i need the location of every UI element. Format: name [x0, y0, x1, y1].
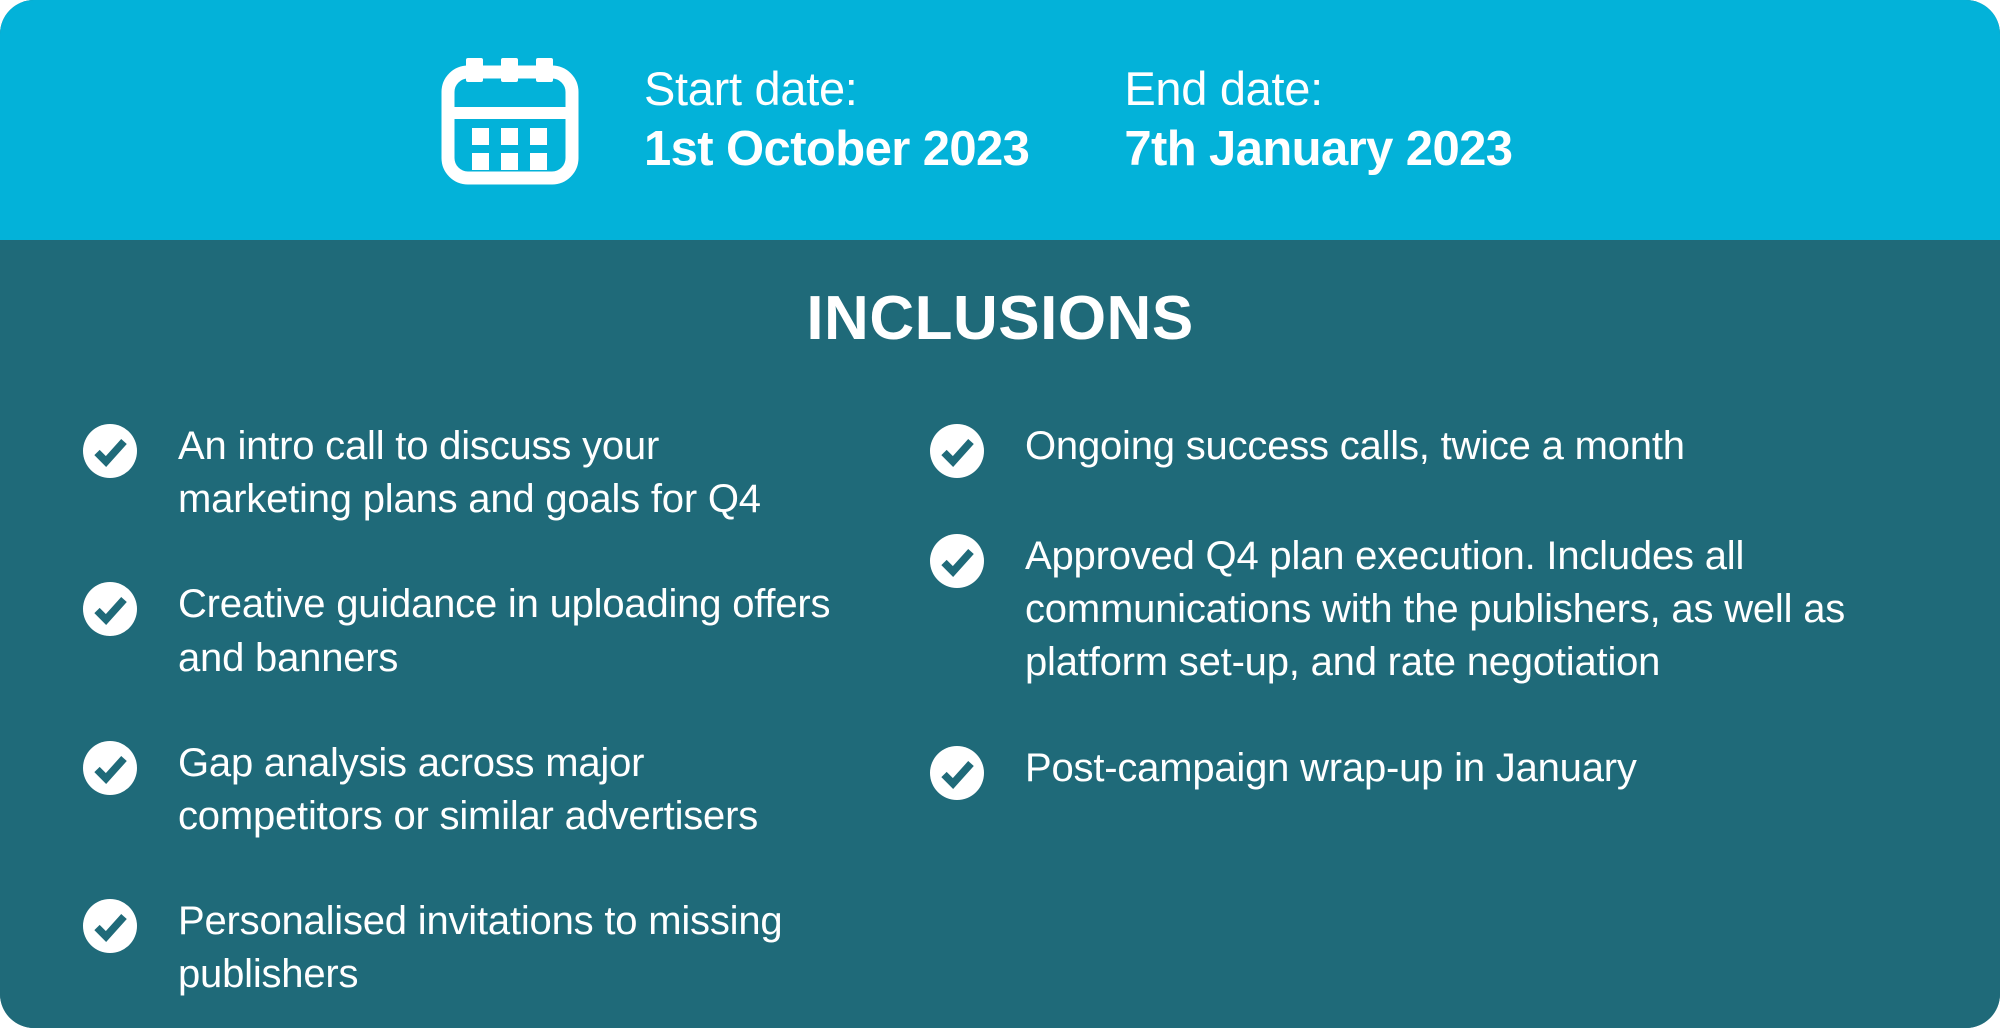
- check-circle-icon: [930, 424, 984, 478]
- list-item: Approved Q4 plan execution. Includes all…: [930, 530, 1930, 690]
- inclusions-right-column: Ongoing success calls, twice a month App…: [930, 420, 1930, 1028]
- list-item: Gap analysis across major competitors or…: [83, 737, 873, 843]
- check-circle-icon: [83, 424, 137, 478]
- list-item-label: Gap analysis across major competitors or…: [178, 737, 838, 843]
- list-item: Personalised invitations to missing publ…: [83, 895, 873, 1001]
- date-header-content: Start date: 1st October 2023 End date: 7…: [440, 54, 1512, 186]
- list-item: Ongoing success calls, twice a month: [930, 420, 1930, 478]
- start-date-label: Start date:: [644, 61, 1029, 116]
- list-item-label: An intro call to discuss your marketing …: [178, 420, 838, 526]
- end-date-label: End date:: [1124, 61, 1512, 116]
- inclusions-columns: An intro call to discuss your marketing …: [0, 420, 2000, 1028]
- list-item-label: Approved Q4 plan execution. Includes all…: [1025, 530, 1865, 690]
- list-item: An intro call to discuss your marketing …: [83, 420, 873, 526]
- list-item: Creative guidance in uploading offers an…: [83, 578, 873, 684]
- page-title: INCLUSIONS: [0, 288, 2000, 350]
- inclusions-body: INCLUSIONS An intro call to discuss your…: [0, 240, 2000, 1028]
- start-date-value: 1st October 2023: [644, 121, 1029, 179]
- check-circle-icon: [930, 534, 984, 588]
- list-item: Post-campaign wrap-up in January: [930, 742, 1930, 800]
- list-item-label: Personalised invitations to missing publ…: [178, 895, 838, 1001]
- start-date-group: Start date: 1st October 2023: [644, 61, 1029, 178]
- inclusions-card: Start date: 1st October 2023 End date: 7…: [0, 0, 2000, 1028]
- calendar-icon: [440, 58, 580, 186]
- check-circle-icon: [83, 741, 137, 795]
- inclusions-left-column: An intro call to discuss your marketing …: [83, 420, 873, 1028]
- list-item-label: Creative guidance in uploading offers an…: [178, 578, 838, 684]
- list-item-label: Post-campaign wrap-up in January: [1025, 742, 1637, 795]
- date-block: Start date: 1st October 2023 End date: 7…: [644, 61, 1512, 178]
- check-circle-icon: [83, 899, 137, 953]
- check-circle-icon: [930, 746, 984, 800]
- end-date-group: End date: 7th January 2023: [1124, 61, 1512, 178]
- check-circle-icon: [83, 582, 137, 636]
- end-date-value: 7th January 2023: [1124, 121, 1512, 179]
- date-header-band: Start date: 1st October 2023 End date: 7…: [0, 0, 2000, 240]
- list-item-label: Ongoing success calls, twice a month: [1025, 420, 1685, 473]
